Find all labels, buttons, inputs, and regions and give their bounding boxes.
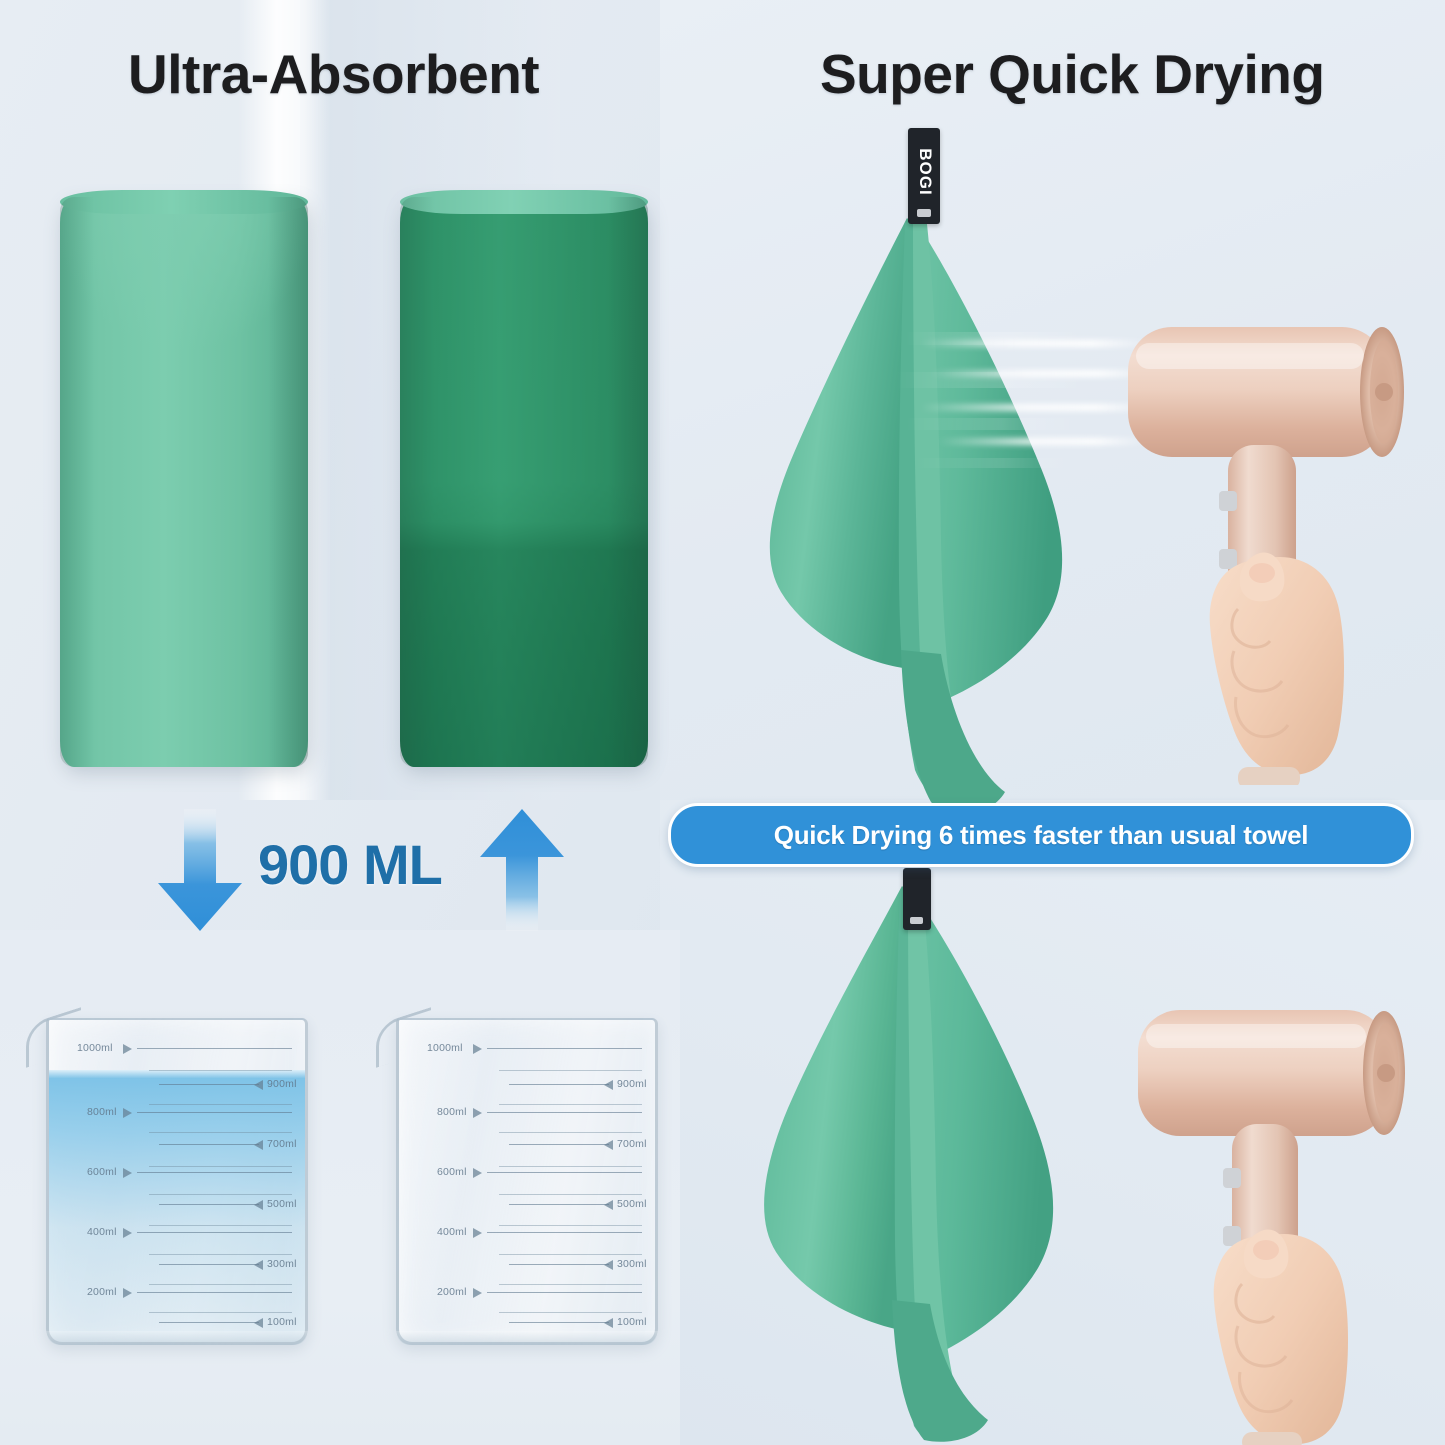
- beaker-mark-label: 500ml: [617, 1198, 647, 1210]
- beaker-mark-label: 800ml: [437, 1106, 467, 1118]
- beaker-mark-label: 700ml: [267, 1138, 297, 1150]
- beaker-with-water: 1000ml 800ml 600ml 400ml 200ml 900ml 700…: [24, 1000, 314, 1345]
- beaker-mark-label: 400ml: [437, 1226, 467, 1238]
- hanging-loop-tag-top: BOGI: [908, 128, 940, 224]
- beaker-mark-label: 800ml: [87, 1106, 117, 1118]
- beaker-mark-label: 600ml: [87, 1166, 117, 1178]
- beaker-mark-label: 300ml: [267, 1258, 297, 1270]
- hanging-towel-bottom: [740, 880, 1100, 1445]
- towel-shadow-right: [268, 197, 308, 767]
- beaker-mark-label: 700ml: [617, 1138, 647, 1150]
- towel-shadow-right: [608, 197, 648, 767]
- beaker-mark-label: 1000ml: [427, 1042, 463, 1054]
- beaker-mark-label: 400ml: [87, 1226, 117, 1238]
- beaker-mark-label: 100ml: [617, 1316, 647, 1328]
- arrow-down-icon: [150, 805, 250, 935]
- banner-text: Quick Drying 6 times faster than usual t…: [774, 820, 1308, 851]
- beaker-mark-label: 1000ml: [77, 1042, 113, 1054]
- beaker-base: [46, 1331, 308, 1345]
- beaker-base: [396, 1331, 658, 1345]
- beaker-glass: 1000ml 800ml 600ml 400ml 200ml 900ml 700…: [396, 1018, 658, 1345]
- hanging-towel-top: [755, 210, 1105, 820]
- beaker-mark-label: 500ml: [267, 1198, 297, 1210]
- beaker-mark-label: 200ml: [437, 1286, 467, 1298]
- hair-dryer-bottom: [1120, 990, 1445, 1445]
- arrow-up-icon: [472, 805, 572, 935]
- beaker-glass: 1000ml 800ml 600ml 400ml 200ml 900ml 700…: [46, 1018, 308, 1345]
- page-title-right: Super Quick Drying: [820, 42, 1324, 106]
- water-surface: [49, 1070, 305, 1078]
- hanging-loop-tag-bottom: [903, 868, 931, 930]
- volume-label: 900 ML: [258, 832, 442, 897]
- beaker-mark-label: 200ml: [87, 1286, 117, 1298]
- brand-label: BOGI: [915, 133, 935, 211]
- page-title-left: Ultra-Absorbent: [128, 42, 539, 106]
- rolled-towel-wet: [400, 197, 648, 767]
- hair-dryer-top: [1110, 305, 1445, 785]
- rolled-towel-dry: [60, 197, 308, 767]
- beaker-mark-label: 900ml: [617, 1078, 647, 1090]
- beaker-mark-label: 100ml: [267, 1316, 297, 1328]
- beaker-empty: 1000ml 800ml 600ml 400ml 200ml 900ml 700…: [374, 1000, 664, 1345]
- infographic-canvas: Ultra-Absorbent Super Quick Drying: [0, 0, 1445, 1445]
- quick-drying-banner: Quick Drying 6 times faster than usual t…: [668, 803, 1414, 867]
- beaker-mark-label: 300ml: [617, 1258, 647, 1270]
- towel-shadow-left: [400, 197, 434, 767]
- tag-grommet: [910, 917, 923, 924]
- tag-grommet: [917, 209, 931, 217]
- beaker-mark-label: 900ml: [267, 1078, 297, 1090]
- beaker-mark-label: 600ml: [437, 1166, 467, 1178]
- towel-shadow-left: [60, 197, 94, 767]
